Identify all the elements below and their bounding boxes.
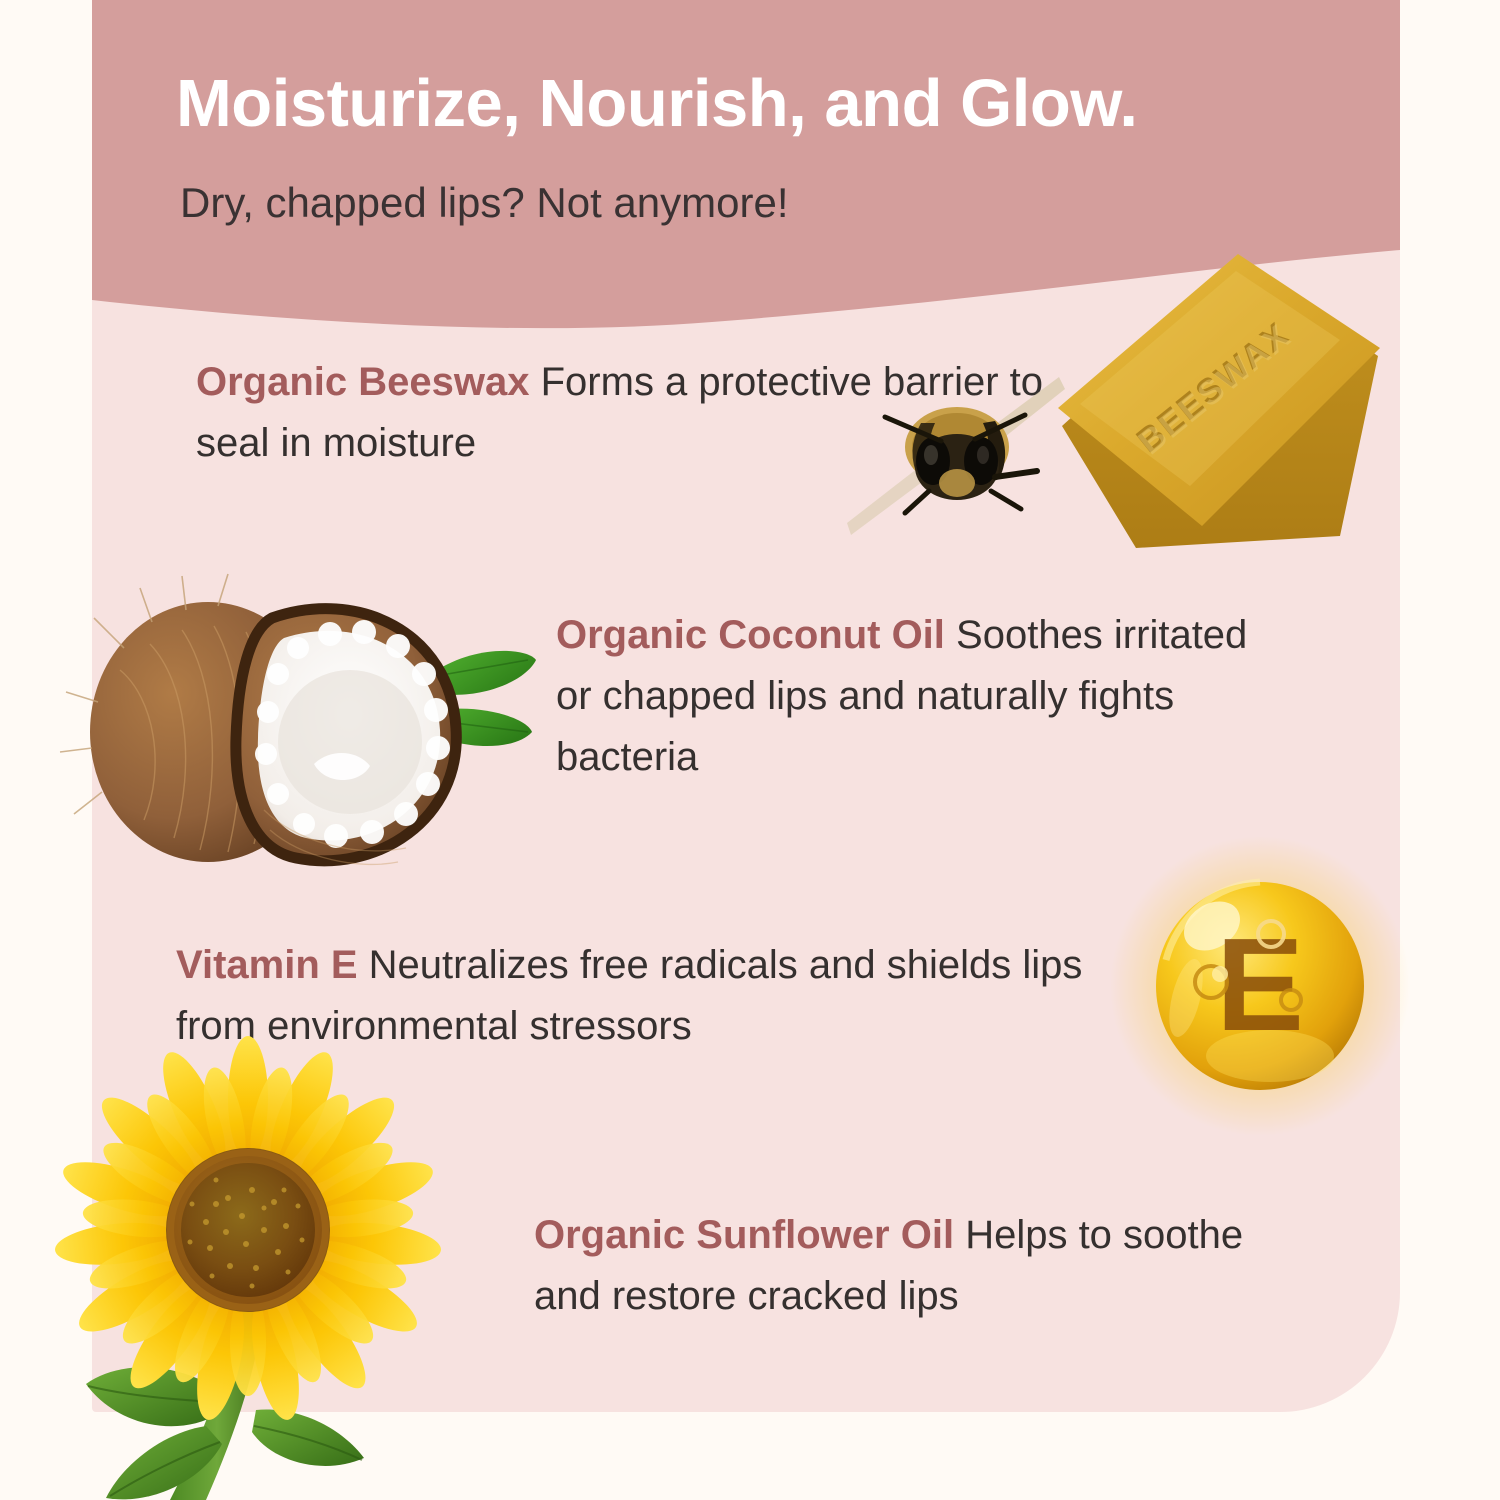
ingredient-text-coconut: Organic Coconut Oil Soothes irritated or… xyxy=(556,605,1286,787)
infographic-canvas: Moisturize, Nourish, and Glow. Dry, chap… xyxy=(0,0,1500,1500)
ingredient-name-sunflower: Organic Sunflower Oil xyxy=(534,1213,954,1257)
ingredient-name-beeswax: Organic Beeswax xyxy=(196,360,530,404)
honeybee-image xyxy=(845,375,1075,560)
ingredient-name-vitamin-e: Vitamin E xyxy=(176,943,358,987)
coconut-image xyxy=(58,552,538,892)
page-subtitle: Dry, chapped lips? Not anymore! xyxy=(180,180,1280,226)
ingredient-name-coconut: Organic Coconut Oil xyxy=(556,613,945,657)
beeswax-bar-image: BEESWAX BEESWAX xyxy=(1040,236,1400,576)
page-title: Moisturize, Nourish, and Glow. xyxy=(176,68,1356,140)
ingredient-text-vitamin-e: Vitamin E Neutralizes free radicals and … xyxy=(176,935,1136,1057)
vitamin-e-droplet-image: E xyxy=(1128,860,1428,1125)
sunflower-image xyxy=(20,1070,490,1500)
ingredient-text-sunflower: Organic Sunflower Oil Helps to soothe an… xyxy=(534,1205,1294,1327)
